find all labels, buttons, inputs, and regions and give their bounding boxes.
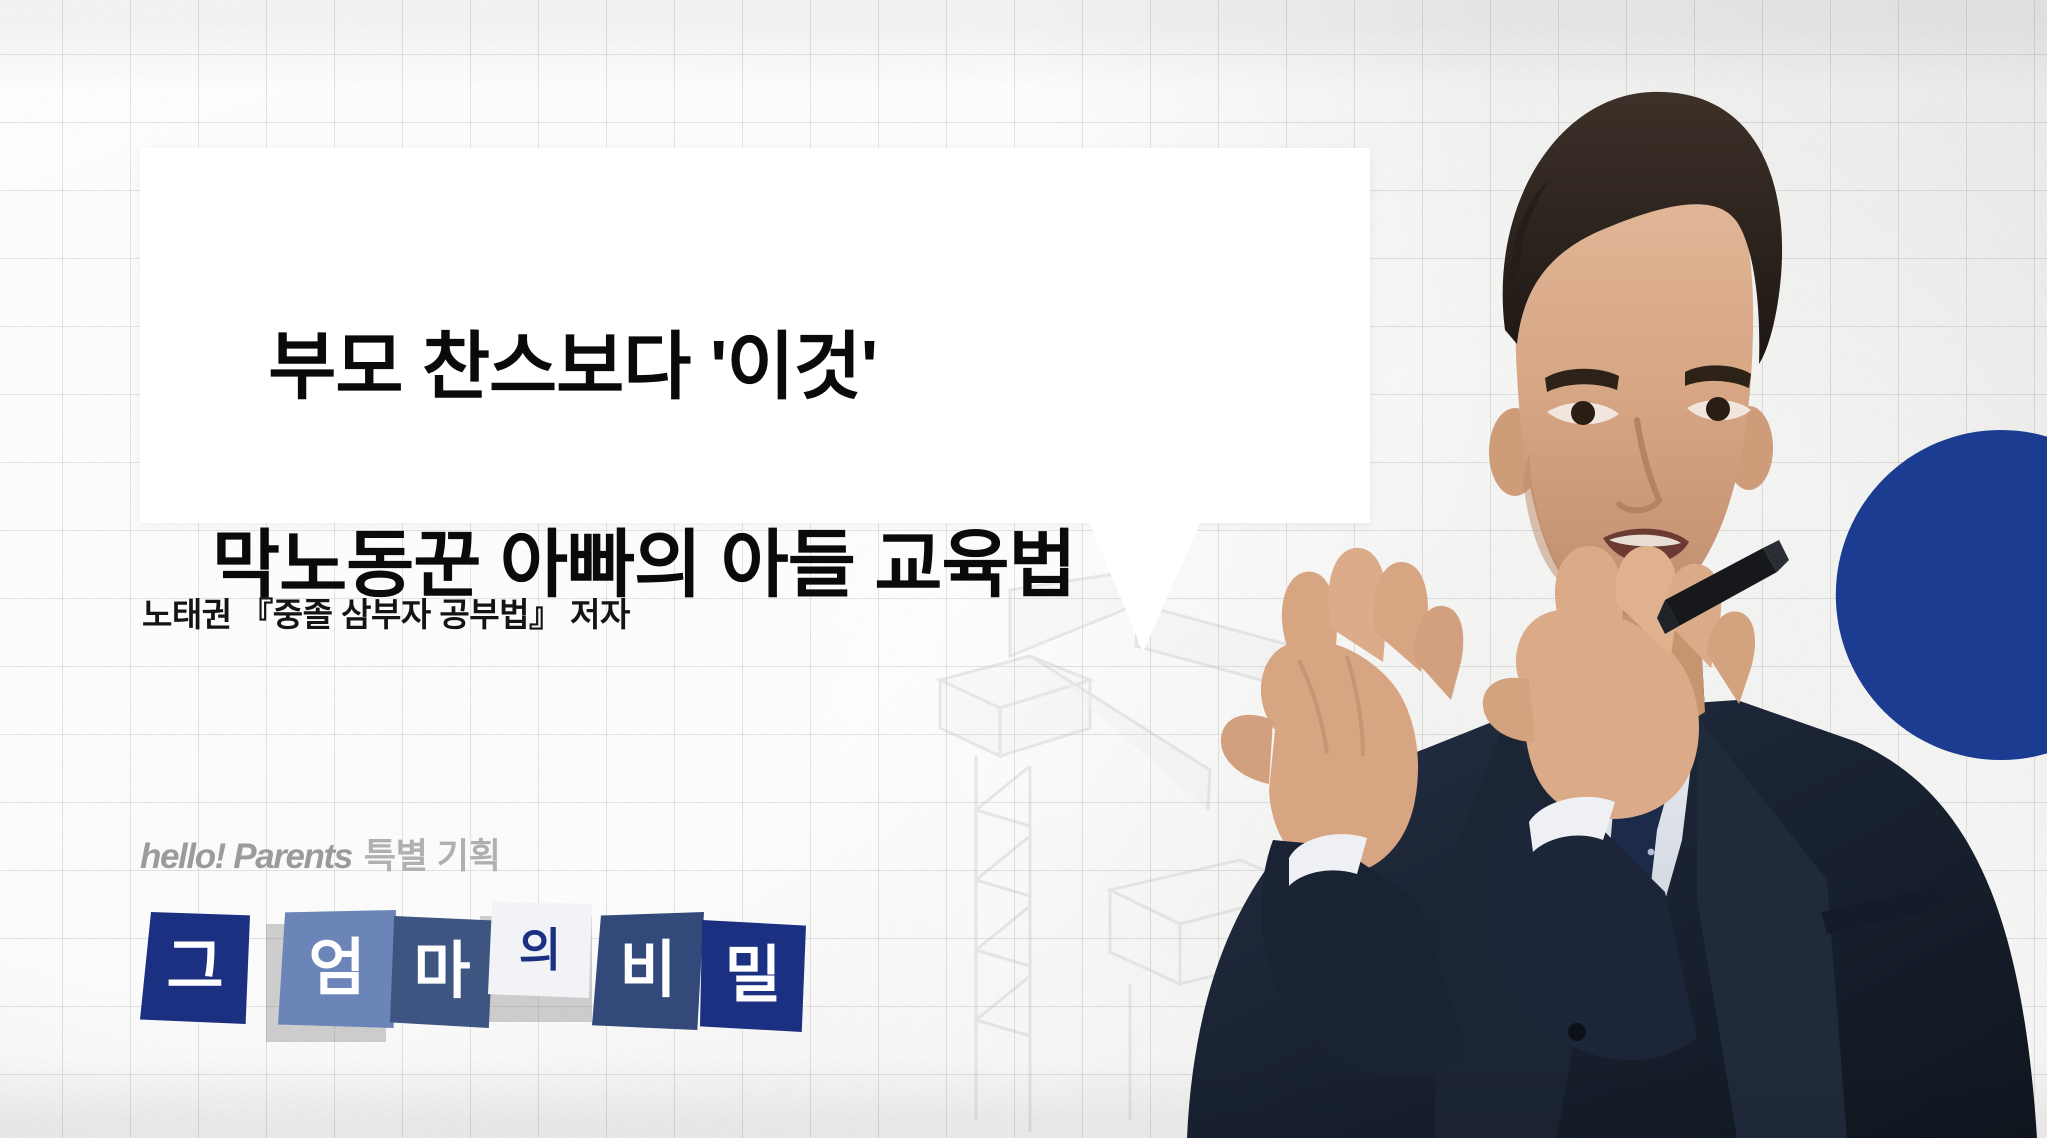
background-vignette (0, 0, 2047, 1138)
poster-canvas: 부모 찬스보다 '이것' 막노동꾼 아빠의 아들 교육법 노태권 『중졸 삼부자… (0, 0, 2047, 1138)
